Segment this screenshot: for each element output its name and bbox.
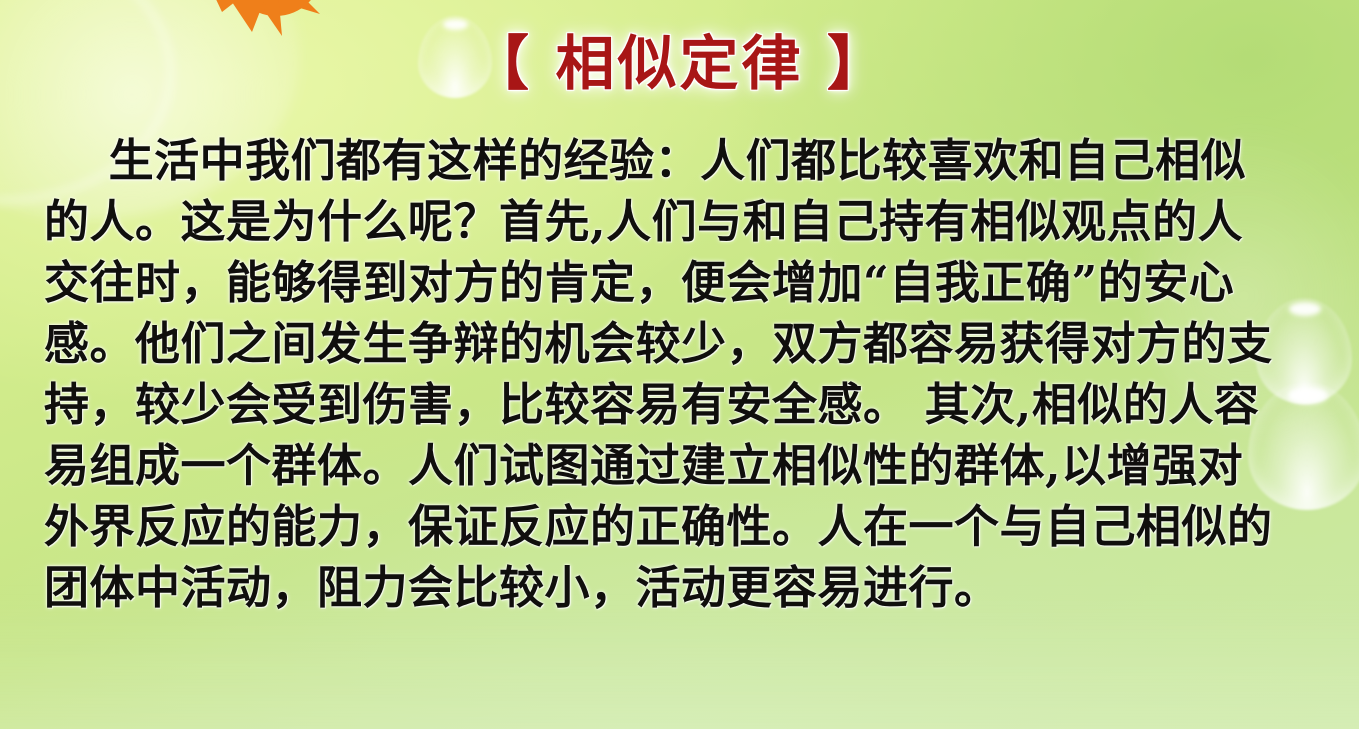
- slide-body-paragraph: 生活中我们都有这样的经验：人们都比较喜欢和自己相似的人。这是为什么呢？首先,人们…: [44, 130, 1274, 618]
- presentation-slide: 【 相似定律 】 生活中我们都有这样的经验：人们都比较喜欢和自己相似的人。这是为…: [0, 0, 1359, 729]
- slide-title: 【 相似定律 】: [0, 16, 1359, 101]
